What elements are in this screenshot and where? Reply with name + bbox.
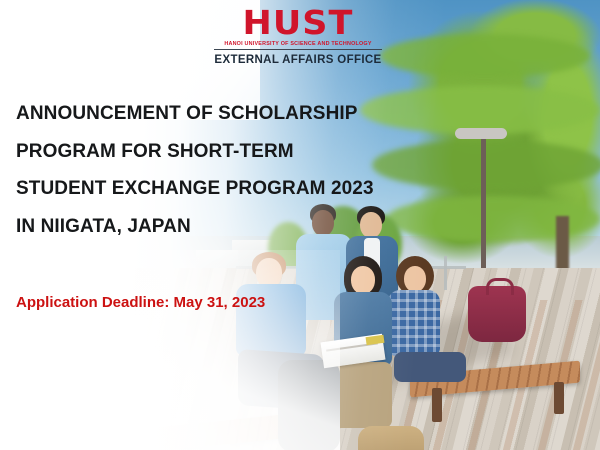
headline-block: ANNOUNCEMENT OF SCHOLARSHIP PROGRAM FOR …	[16, 95, 416, 245]
hust-wordmark: HUST	[208, 6, 388, 39]
office-name: EXTERNAL AFFAIRS OFFICE	[213, 54, 383, 66]
headline-line-2: PROGRAM FOR SHORT-TERM	[16, 133, 416, 171]
headline-line-1: ANNOUNCEMENT OF SCHOLARSHIP	[16, 95, 416, 133]
application-deadline: Application Deadline: May 31, 2023	[16, 294, 265, 311]
headline-line-4: IN NIIGATA, JAPAN	[16, 208, 416, 246]
white-scrim-bottom	[0, 250, 340, 450]
hust-logo: HUST HANOI UNIVERSITY OF SCIENCE AND TEC…	[213, 6, 383, 66]
headline-line-3: STUDENT EXCHANGE PROGRAM 2023	[16, 170, 416, 208]
scholarship-announcement-banner: HUST HANOI UNIVERSITY OF SCIENCE AND TEC…	[0, 0, 600, 450]
logo-divider	[214, 49, 382, 50]
